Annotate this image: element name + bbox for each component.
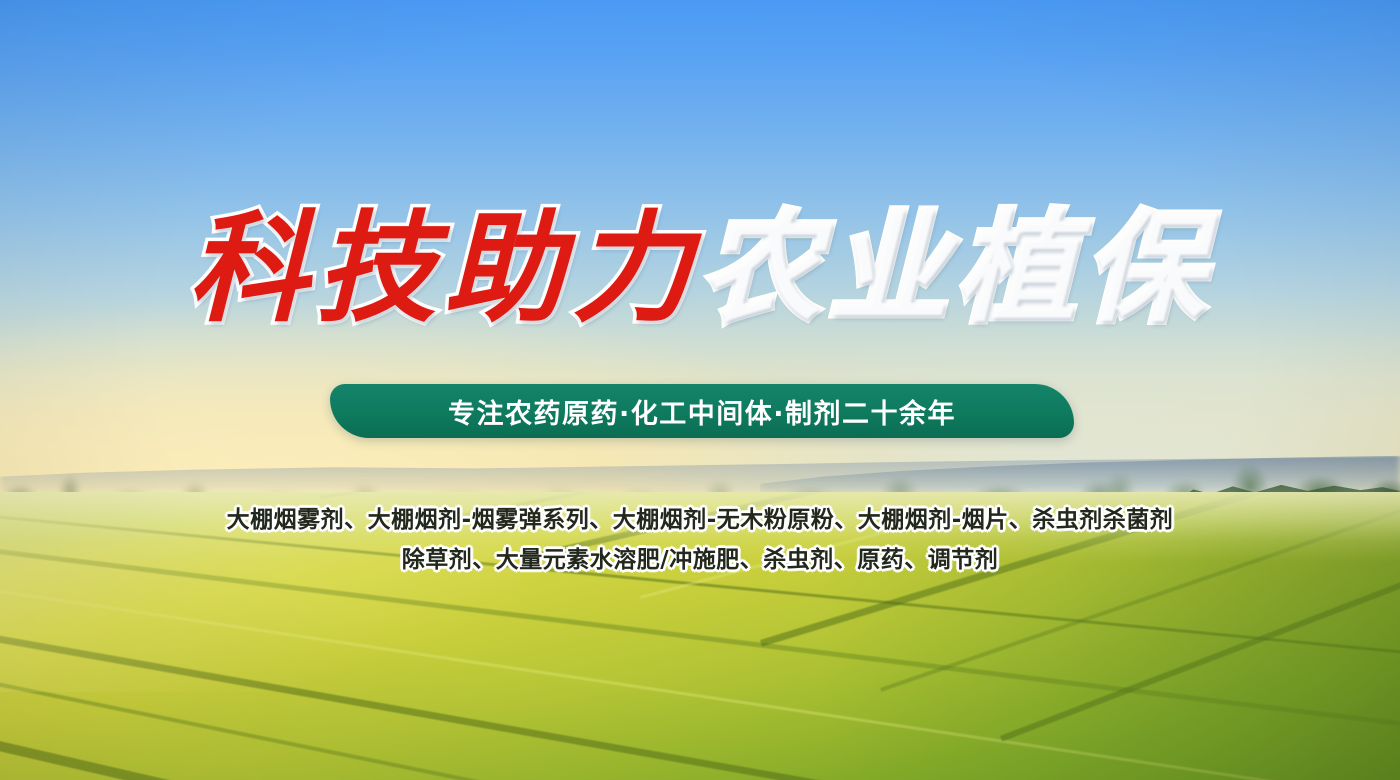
subtitle-pill: 专注农药原药·化工中间体·制剂二十余年 (330, 384, 1074, 438)
title-segment-red: 科技助力 (188, 202, 700, 336)
hero-banner: 科技助力农业植保 专注农药原药·化工中间体·制剂二十余年 大棚烟雾剂、大棚烟剂-… (0, 0, 1400, 780)
subtitle-pill-text: 专注农药原药·化工中间体·制剂二十余年 (448, 392, 956, 431)
product-line-2: 除草剂、大量元素水溶肥/冲施肥、杀虫剂、原药、调节剂 (0, 540, 1400, 580)
product-line-1: 大棚烟雾剂、大棚烟剂-烟雾弹系列、大棚烟剂-无木粉原粉、大棚烟剂-烟片、杀虫剂杀… (0, 500, 1400, 540)
banner-title: 科技助力农业植保 (0, 202, 1400, 336)
title-segment-green: 农业植保 (700, 202, 1212, 336)
product-list: 大棚烟雾剂、大棚烟剂-烟雾弹系列、大棚烟剂-无木粉原粉、大棚烟剂-烟片、杀虫剂杀… (0, 500, 1400, 580)
